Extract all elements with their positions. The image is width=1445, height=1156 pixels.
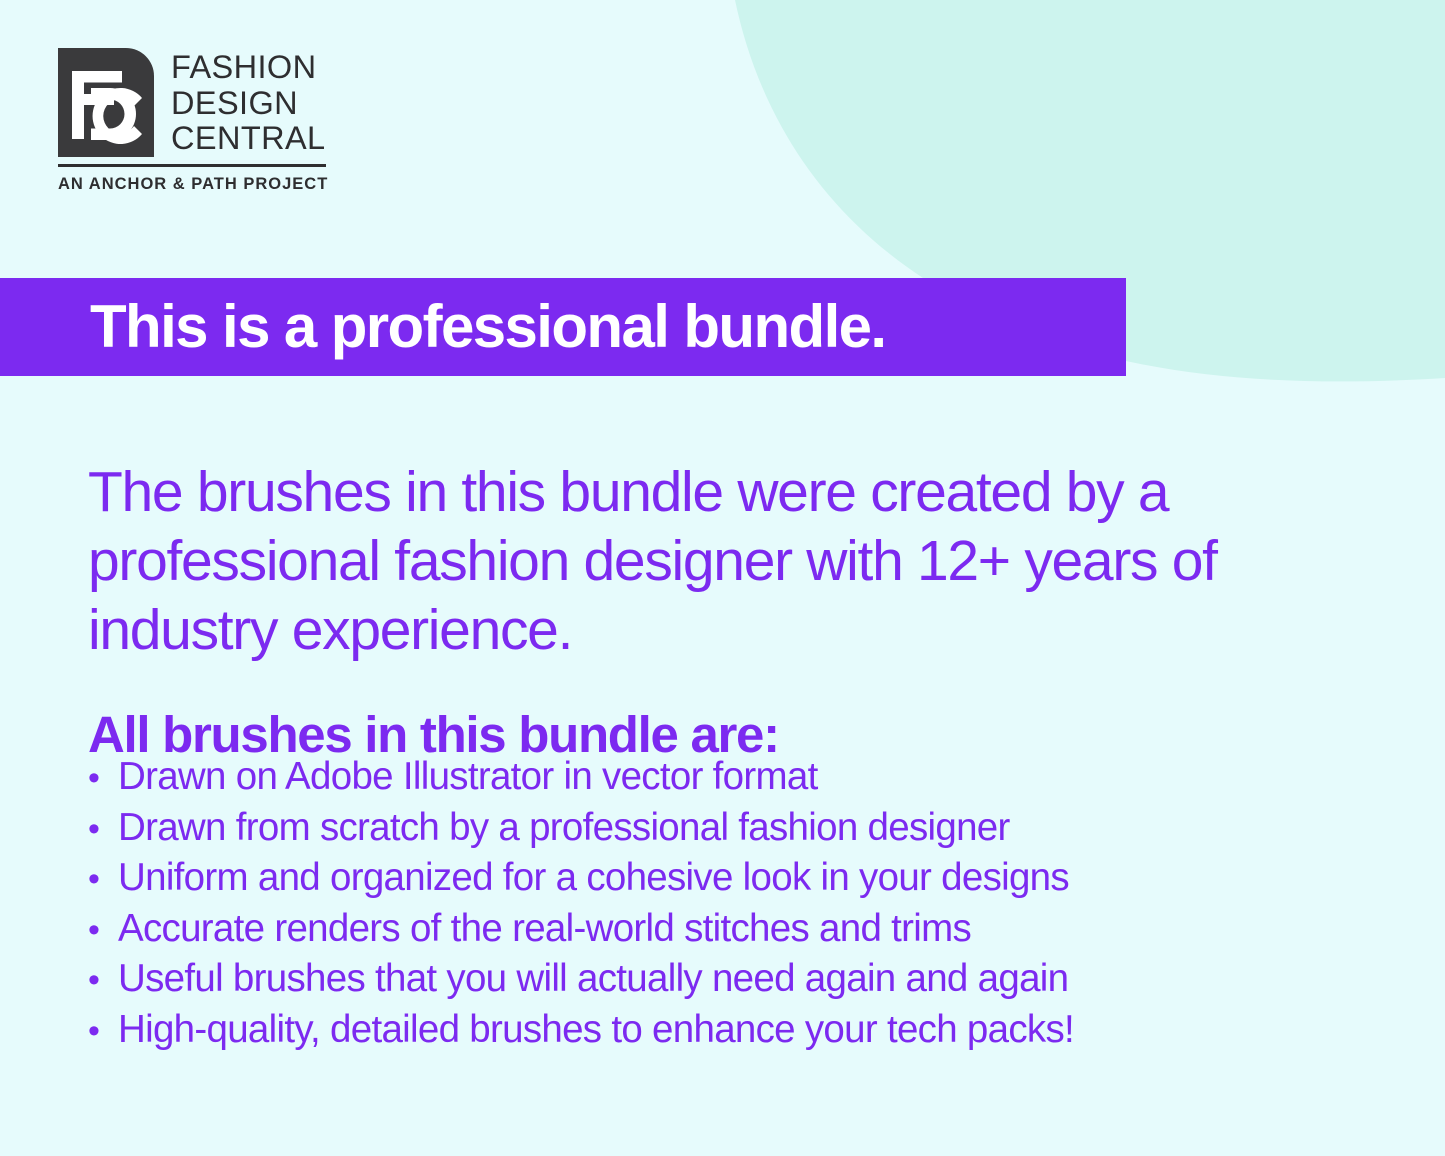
list-item: • Drawn on Adobe Illustrator in vector f… [88,752,1408,803]
logo-wordmark: FASHION DESIGN CENTRAL [171,48,326,157]
list-item: • Drawn from scratch by a professional f… [88,803,1408,854]
bullet-icon: • [88,905,118,956]
bullet-icon: • [88,1006,118,1057]
logo-lockup: FASHION DESIGN CENTRAL AN ANCHOR & PATH … [58,48,326,194]
list-item: • Useful brushes that you will actually … [88,954,1408,1005]
list-item: • Accurate renders of the real-world sti… [88,904,1408,955]
wordmark-line-fashion: FASHION [171,50,326,86]
bullet-icon: • [88,955,118,1006]
bullet-icon: • [88,854,118,905]
list-item-label: High-quality, detailed brushes to enhanc… [118,1005,1074,1056]
logo-tagline: AN ANCHOR & PATH PROJECT [58,175,326,194]
headline-banner: This is a professional bundle. [0,278,1126,376]
fdc-monogram-icon [58,48,154,157]
list-item: • High-quality, detailed brushes to enha… [88,1005,1408,1056]
bullet-icon: • [88,753,118,804]
intro-paragraph: The brushes in this bundle were created … [88,458,1398,665]
list-item-label: Accurate renders of the real-world stitc… [118,904,971,955]
logo-divider [58,164,326,167]
wordmark-line-central: CENTRAL [171,121,326,157]
list-item-label: Drawn from scratch by a professional fas… [118,803,1010,854]
wordmark-line-design: DESIGN [171,86,326,122]
headline-text: This is a professional bundle. [90,296,886,358]
list-item-label: Useful brushes that you will actually ne… [118,954,1068,1005]
list-item-label: Drawn on Adobe Illustrator in vector for… [118,752,818,803]
bullet-icon: • [88,804,118,855]
logo-top-row: FASHION DESIGN CENTRAL [58,48,326,157]
list-item: • Uniform and organized for a cohesive l… [88,853,1408,904]
list-item-label: Uniform and organized for a cohesive loo… [118,853,1069,904]
benefits-list: • Drawn on Adobe Illustrator in vector f… [88,752,1408,1055]
